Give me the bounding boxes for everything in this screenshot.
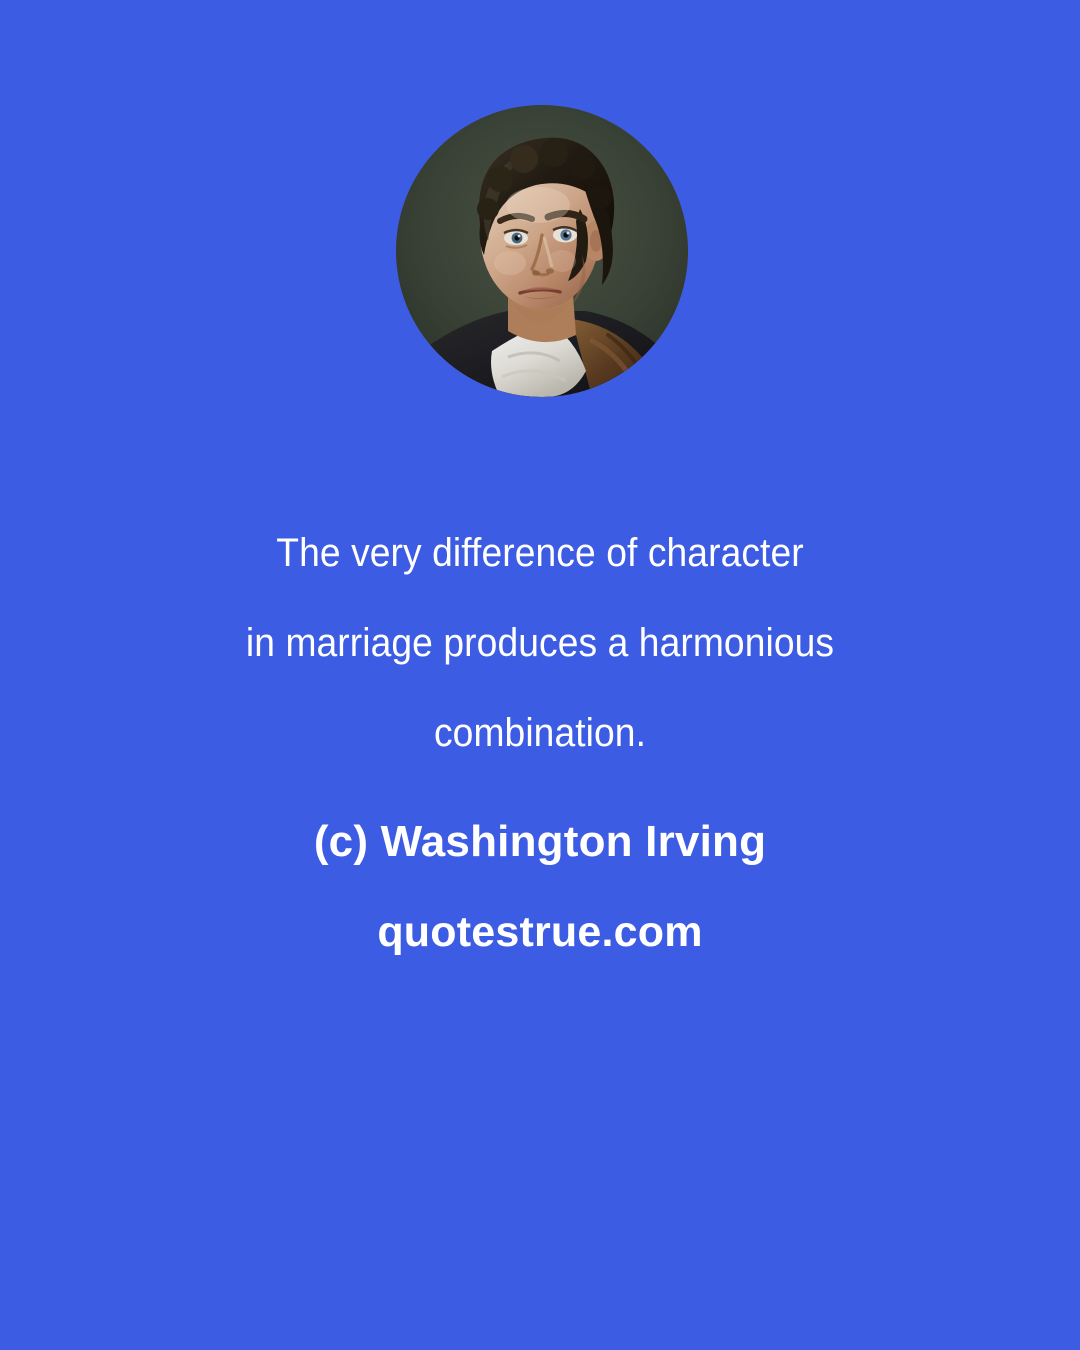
quote-attribution: (c) Washington Irving xyxy=(0,812,1080,872)
quote-card: The very difference of character in marr… xyxy=(0,0,1080,1350)
quote-text: The very difference of character in marr… xyxy=(0,508,1080,778)
portrait-illustration xyxy=(396,105,688,397)
quote-line-2: in marriage produces a harmonious xyxy=(38,598,1042,688)
portrait-container xyxy=(396,105,688,397)
source-website: quotestrue.com xyxy=(0,902,1080,962)
quote-line-3: combination. xyxy=(38,688,1042,778)
quote-line-1: The very difference of character xyxy=(38,508,1042,598)
washington-irving-portrait xyxy=(396,105,688,397)
